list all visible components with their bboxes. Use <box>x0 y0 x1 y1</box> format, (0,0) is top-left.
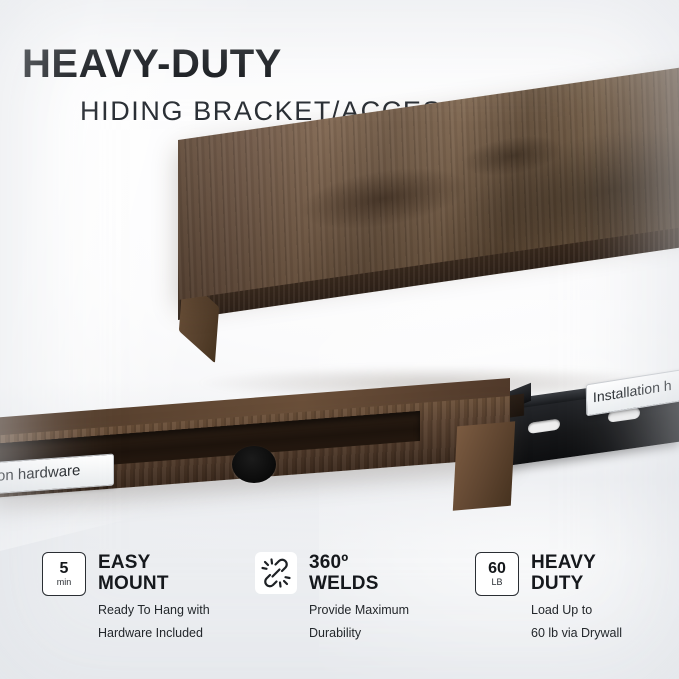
badge-unit: min <box>57 578 72 588</box>
feature-heavy-duty: 60 LB HEAVY DUTY Load Up to 60 lb via Dr… <box>475 552 675 642</box>
feature-heading-line1: EASY <box>98 552 210 573</box>
closeup-end-grain <box>453 421 515 510</box>
feature-text: 360º WELDS Provide Maximum Durability <box>309 552 409 642</box>
feature-text: EASY MOUNT Ready To Hang with Hardware I… <box>98 552 210 642</box>
badge-value: 60 <box>488 561 506 577</box>
feature-desc-line2: 60 lb via Drywall <box>531 625 622 642</box>
closeup-mounting-hole <box>232 446 276 483</box>
feature-text: HEAVY DUTY Load Up to 60 lb via Drywall <box>531 552 622 642</box>
feature-heading-line1: 360º <box>309 552 409 573</box>
feature-heading-line1: HEAVY <box>531 552 622 573</box>
badge-unit: LB <box>491 578 502 588</box>
badge-5-min: 5 min <box>42 552 86 596</box>
feature-row: 5 min EASY MOUNT Ready To Hang with Hard… <box>20 552 670 662</box>
feature-easy-mount: 5 min EASY MOUNT Ready To Hang with Hard… <box>42 552 242 642</box>
feature-desc-line1: Load Up to <box>531 602 622 619</box>
feature-desc-line2: Durability <box>309 625 409 642</box>
product-image-canvas: HEAVY-DUTY HIDING BRACKET/ACCESSORY Inst… <box>0 0 679 679</box>
badge-60-lb: 60 LB <box>475 552 519 596</box>
shelf-hero-image: Installation h <box>0 130 679 390</box>
bracket-screw-slot <box>528 418 560 433</box>
feature-heading-line2: MOUNT <box>98 573 210 594</box>
feature-desc-line2: Hardware Included <box>98 625 210 642</box>
feature-heading-line2: WELDS <box>309 573 409 594</box>
badge-value: 5 <box>60 561 69 577</box>
installation-hardware-label-bottom-text: on hardware <box>0 462 80 485</box>
installation-hardware-label-top-text: Installation h <box>593 377 672 405</box>
feature-heading-line2: DUTY <box>531 573 622 594</box>
feature-desc-line1: Ready To Hang with <box>98 602 210 619</box>
feature-desc-line1: Provide Maximum <box>309 602 409 619</box>
feature-360-welds: 360º WELDS Provide Maximum Durability <box>255 552 465 642</box>
page-title: HEAVY-DUTY <box>22 44 282 84</box>
weld-link-icon <box>255 552 297 594</box>
